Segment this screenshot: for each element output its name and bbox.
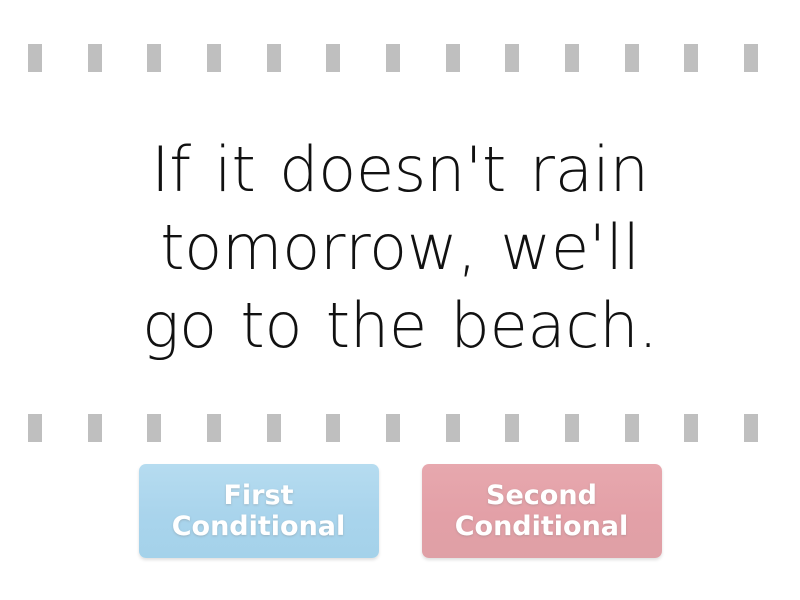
question-text: If it doesn't rain tomorrow, we'll go to…	[142, 131, 658, 365]
separator-bottom	[28, 414, 758, 442]
separator-dash	[744, 44, 758, 72]
separator-dash	[147, 44, 161, 72]
question-line-2: tomorrow, we'll	[160, 211, 640, 284]
answer-label-second-conditional: Second Conditional	[455, 480, 629, 543]
answer-button-second-conditional[interactable]: Second Conditional	[422, 464, 662, 558]
answer-label-first-conditional: First Conditional	[172, 480, 346, 543]
separator-dash	[386, 44, 400, 72]
separator-dash	[625, 44, 639, 72]
separator-dash	[207, 414, 221, 442]
separator-dash	[744, 414, 758, 442]
separator-dash	[267, 44, 281, 72]
separator-dash	[326, 44, 340, 72]
question-prompt: If it doesn't rain tomorrow, we'll go to…	[60, 104, 740, 392]
separator-dash	[684, 414, 698, 442]
separator-dash	[88, 44, 102, 72]
separator-dash	[505, 414, 519, 442]
answer-label-line-2: Conditional	[172, 511, 346, 542]
question-line-3: go to the beach.	[142, 289, 658, 362]
separator-dash	[326, 414, 340, 442]
answer-label-line-1: First	[223, 480, 293, 511]
separator-dash	[505, 44, 519, 72]
separator-dash	[565, 44, 579, 72]
separator-top	[28, 44, 758, 72]
separator-dash	[88, 414, 102, 442]
separator-dash	[684, 44, 698, 72]
separator-dash	[565, 414, 579, 442]
separator-dash	[625, 414, 639, 442]
quiz-card: If it doesn't rain tomorrow, we'll go to…	[0, 0, 800, 600]
separator-dash	[147, 414, 161, 442]
answer-options: First Conditional Second Conditional	[0, 464, 800, 558]
separator-dash	[207, 44, 221, 72]
separator-dash	[28, 414, 42, 442]
answer-label-line-1: Second	[486, 480, 597, 511]
separator-dash	[386, 414, 400, 442]
separator-dash	[267, 414, 281, 442]
separator-dash	[446, 44, 460, 72]
answer-button-first-conditional[interactable]: First Conditional	[139, 464, 379, 558]
answer-label-line-2: Conditional	[455, 511, 629, 542]
question-line-1: If it doesn't rain	[151, 133, 649, 206]
separator-dash	[446, 414, 460, 442]
separator-dash	[28, 44, 42, 72]
